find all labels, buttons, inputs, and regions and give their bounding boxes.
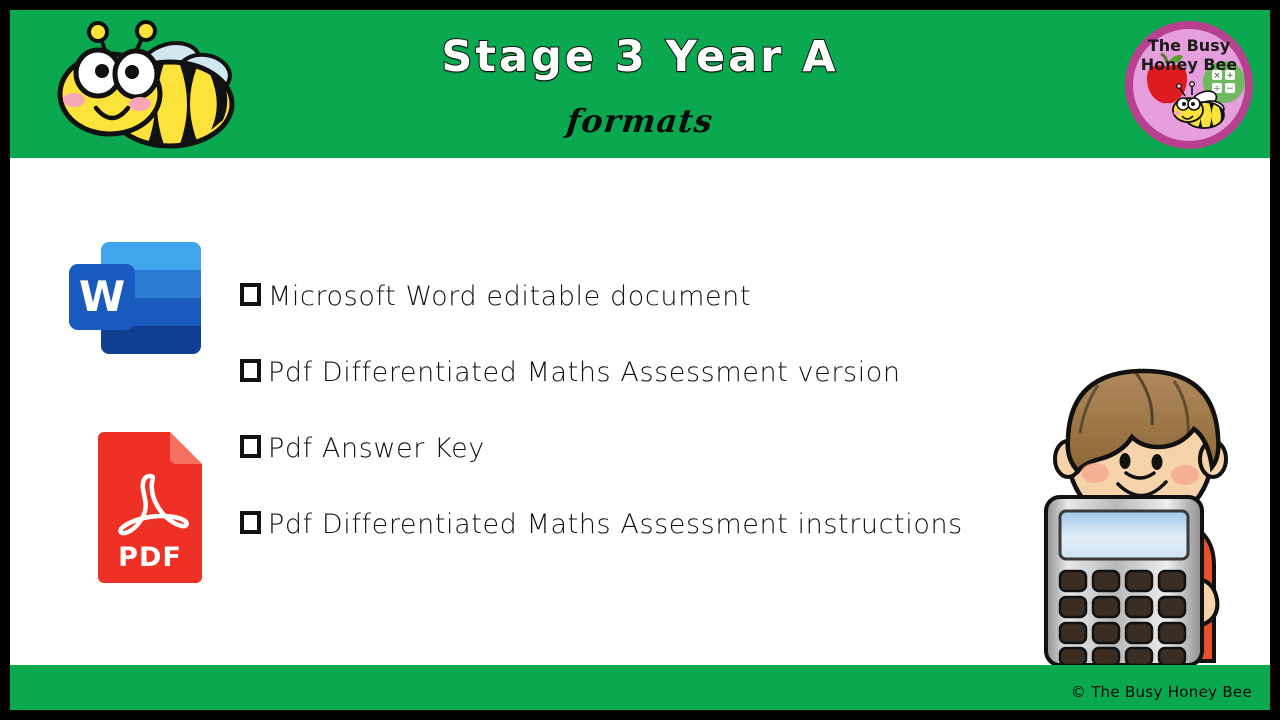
- microsoft-word-icon: W: [65, 238, 205, 362]
- checkbox-icon[interactable]: [240, 359, 264, 385]
- list-item[interactable]: Pdf Differentiated Maths Assessment inst…: [240, 486, 1040, 562]
- checkbox-icon[interactable]: [240, 283, 264, 309]
- list-item-label: Pdf Answer Key: [268, 435, 485, 462]
- list-item[interactable]: Microsoft Word editable document: [240, 258, 1040, 334]
- word-letter: W: [79, 272, 125, 321]
- logo-line-2: Honey Bee: [1141, 55, 1238, 74]
- pdf-label: PDF: [118, 542, 182, 573]
- checkbox-icon[interactable]: [240, 511, 264, 537]
- list-item-label: Pdf Differentiated Maths Assessment inst…: [268, 511, 963, 538]
- slide-root: Stage 3 Year A formats: [0, 0, 1280, 720]
- svg-text:−: −: [1226, 84, 1234, 94]
- pdf-file-icon: PDF: [88, 430, 212, 585]
- list-item[interactable]: Pdf Differentiated Maths Assessment vers…: [240, 334, 1040, 410]
- checkbox-icon[interactable]: [240, 435, 264, 461]
- brand-logo[interactable]: × + ÷ −: [1122, 18, 1256, 152]
- list-item-label: Microsoft Word editable document: [268, 283, 751, 310]
- copyright-text: © The Busy Honey Bee: [1071, 683, 1252, 701]
- logo-line-1: The Busy: [1148, 36, 1231, 55]
- list-item-label: Pdf Differentiated Maths Assessment vers…: [268, 359, 901, 386]
- slide-canvas: Stage 3 Year A formats: [10, 10, 1270, 710]
- formats-checklist: Microsoft Word editable document Pdf Dif…: [240, 258, 1040, 562]
- list-item[interactable]: Pdf Answer Key: [240, 410, 1040, 486]
- page-subtitle: formats: [10, 102, 1270, 140]
- boy-with-calculator-illustration: [1024, 355, 1270, 665]
- page-title: Stage 3 Year A: [10, 32, 1270, 82]
